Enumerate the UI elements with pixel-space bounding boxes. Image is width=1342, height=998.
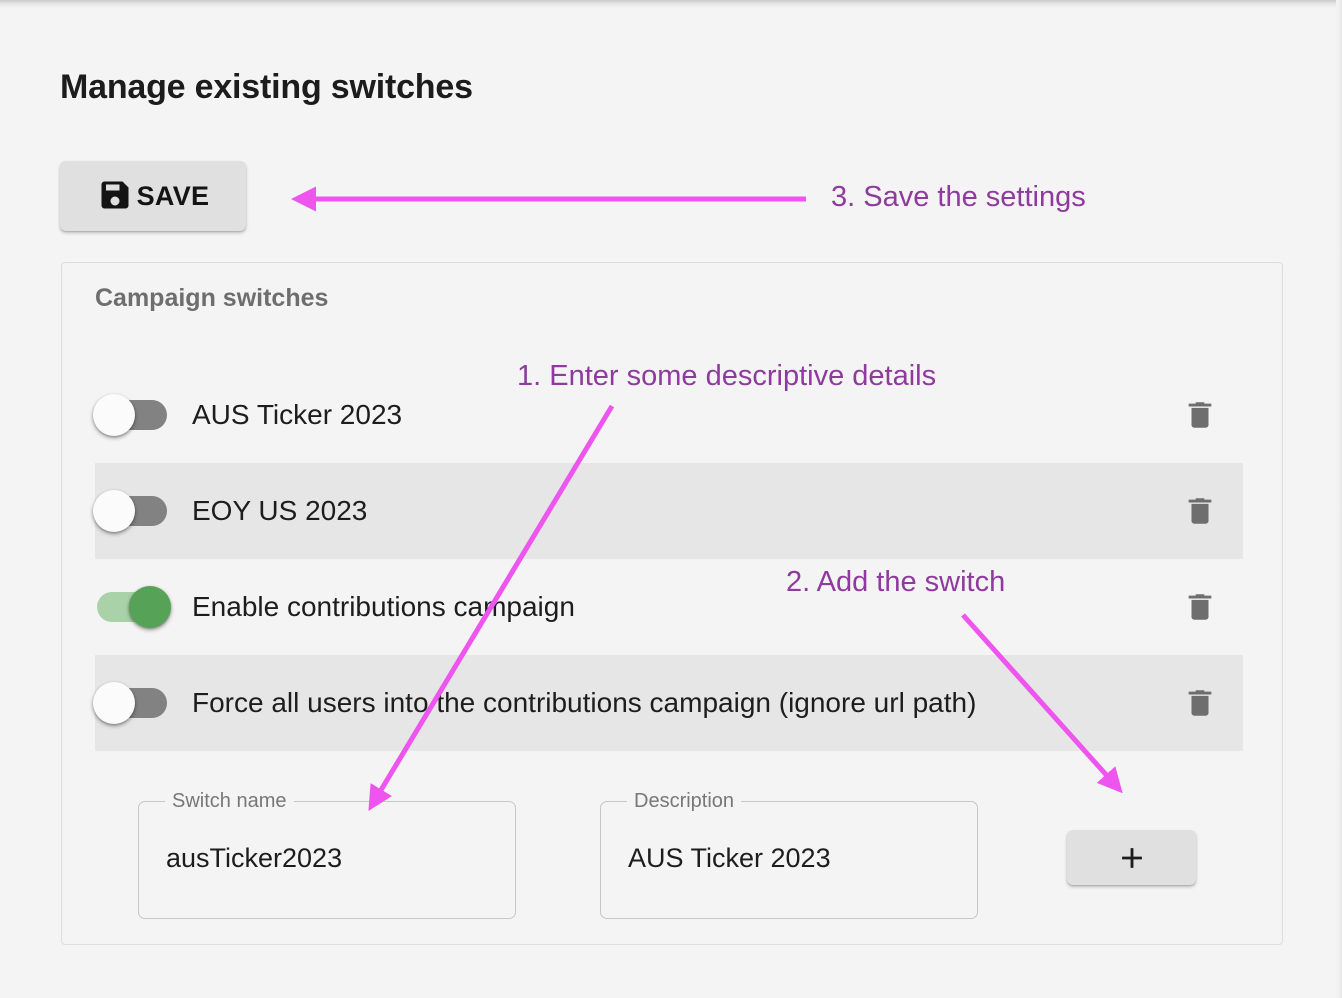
delete-switch-button[interactable] bbox=[1183, 686, 1217, 720]
switch-row-label: AUS Ticker 2023 bbox=[192, 399, 402, 431]
toggle-knob bbox=[93, 682, 135, 724]
plus-icon bbox=[1115, 841, 1149, 875]
switch-name-input[interactable] bbox=[166, 843, 486, 874]
save-button[interactable]: SAVE bbox=[60, 161, 246, 231]
switch-row[interactable]: Force all users into the contributions c… bbox=[95, 655, 1243, 751]
annotation-step-3: 3. Save the settings bbox=[831, 181, 1086, 214]
campaign-switches-panel: Campaign switches AUS Ticker 2023 EOY US… bbox=[61, 262, 1283, 945]
top-edge-shading bbox=[0, 0, 1342, 10]
switch-rows: AUS Ticker 2023 EOY US 2023 bbox=[95, 367, 1243, 751]
switch-row[interactable]: AUS Ticker 2023 bbox=[95, 367, 1243, 463]
toggle-eoy-us-2023[interactable] bbox=[97, 496, 167, 526]
description-input[interactable] bbox=[628, 843, 948, 874]
description-field[interactable]: Description bbox=[600, 801, 978, 919]
add-switch-button[interactable] bbox=[1067, 830, 1196, 885]
toggle-knob bbox=[93, 394, 135, 436]
toggle-knob bbox=[93, 490, 135, 532]
trash-icon bbox=[1183, 590, 1217, 624]
switch-row-label: EOY US 2023 bbox=[192, 495, 367, 527]
toggle-aus-ticker-2023[interactable] bbox=[97, 400, 167, 430]
delete-switch-button[interactable] bbox=[1183, 494, 1217, 528]
floppy-disk-icon bbox=[97, 177, 133, 216]
save-button-label: SAVE bbox=[137, 181, 210, 212]
page-title: Manage existing switches bbox=[60, 68, 473, 107]
delete-switch-button[interactable] bbox=[1183, 590, 1217, 624]
switch-row[interactable]: EOY US 2023 bbox=[95, 463, 1243, 559]
trash-icon bbox=[1183, 398, 1217, 432]
trash-icon bbox=[1183, 494, 1217, 528]
trash-icon bbox=[1183, 686, 1217, 720]
switch-name-label: Switch name bbox=[165, 789, 294, 813]
toggle-knob bbox=[129, 586, 171, 628]
switch-name-field[interactable]: Switch name bbox=[138, 801, 516, 919]
toggle-enable-contributions-campaign[interactable] bbox=[97, 592, 167, 622]
new-switch-form: Switch name Description bbox=[138, 801, 1258, 931]
right-edge-shading bbox=[1336, 0, 1342, 998]
delete-switch-button[interactable] bbox=[1183, 398, 1217, 432]
switch-row-label: Force all users into the contributions c… bbox=[192, 687, 976, 719]
toggle-force-all-users[interactable] bbox=[97, 688, 167, 718]
switch-row-label: Enable contributions campaign bbox=[192, 591, 575, 623]
switch-row[interactable]: Enable contributions campaign bbox=[95, 559, 1243, 655]
description-label: Description bbox=[627, 789, 741, 813]
panel-heading: Campaign switches bbox=[95, 284, 328, 313]
